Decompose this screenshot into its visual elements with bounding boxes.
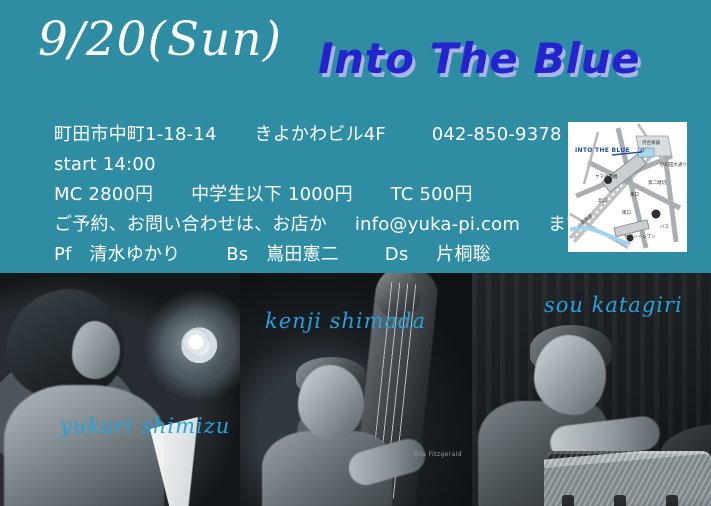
address-line: 町田市中町1-18-14 きよかわビル4F 042-850-9378 xyxy=(54,120,574,150)
map-graphic: INTO THE BLUE 河合楽器 4F 原町田大通り ヤマダ電機 第二踏切 … xyxy=(568,122,687,252)
reservation-text: ご予約、お問い合わせは、お店か xyxy=(54,214,327,235)
price-table-charge: TC 500円 xyxy=(391,184,473,205)
signature-sou-katagiri: sou katagiri xyxy=(544,293,683,317)
start-time: start 14:00 xyxy=(54,154,156,175)
photo-bassist: Ella Fitzgerald kenji shimada xyxy=(240,273,472,506)
venue-building: きよかわビル4F xyxy=(255,124,386,145)
member-photo-strip: yukari shimizu Ella Fitzgerald kenji shi… xyxy=(0,273,711,506)
venue-address: 町田市中町1-18-14 xyxy=(54,124,217,145)
contact-email[interactable]: info@yuka-pi.com xyxy=(355,214,520,235)
map-venue-label: INTO THE BLUE xyxy=(575,147,630,154)
event-date: 9/20(Sun) xyxy=(38,16,282,63)
map-label-3: ヤマダ電機 xyxy=(595,174,618,180)
map-label-4: 第二踏切 xyxy=(648,180,666,186)
map-label-7: 南口 xyxy=(622,210,631,216)
bass-drum xyxy=(544,451,711,506)
drums-role: Ds xyxy=(385,244,409,265)
map-label-10: セブンイレブン xyxy=(624,234,656,240)
pianist-face xyxy=(72,321,120,379)
photo-pianist: yukari shimizu xyxy=(0,273,240,506)
reservation-line: ご予約、お問い合わせは、お店か info@yuka-pi.com まで xyxy=(54,210,574,240)
map-svg xyxy=(568,122,687,252)
drum-lug xyxy=(666,495,678,506)
piano-name: 清水ゆかり xyxy=(89,244,180,265)
signature-kenji-shimada: kenji shimada xyxy=(265,309,426,333)
signature-yukari-shimizu: yukari shimizu xyxy=(60,414,230,438)
location-map[interactable]: INTO THE BLUE 河合楽器 4F 原町田大通り ヤマダ電機 第二踏切 … xyxy=(568,122,687,252)
map-label-5: 北口 xyxy=(598,198,607,204)
price-music-charge: MC 2800円 xyxy=(54,184,153,205)
members-line: Pf 清水ゆかり Bs 嶌田憲二 Ds 片桐聡 xyxy=(54,240,574,270)
bass-role: Bs xyxy=(226,244,248,265)
map-label-6: 東口 xyxy=(630,192,639,198)
photo-credit: Ella Fitzgerald xyxy=(414,451,462,458)
event-details: 町田市中町1-18-14 きよかわビル4F 042-850-9378 start… xyxy=(54,120,574,270)
bass-name: 嶌田憲二 xyxy=(266,244,339,265)
pricing-line: MC 2800円 中学生以下 1000円 TC 500円 xyxy=(54,180,574,210)
photo-drummer: sou katagiri xyxy=(472,273,711,506)
stage-light xyxy=(182,328,210,356)
map-label-2: 原町田大通り xyxy=(660,162,687,168)
concert-flyer: 9/20(Sun) Into The Blue 町田市中町1-18-14 きよか… xyxy=(0,0,711,506)
venue-phone: 042-850-9378 xyxy=(432,124,562,145)
drum-lug xyxy=(614,495,626,506)
map-label-0: 河合楽器 xyxy=(642,140,660,146)
map-label-9: バス xyxy=(660,224,669,230)
map-label-1: 4F xyxy=(640,149,645,154)
band-title: Into The Blue xyxy=(318,38,640,80)
drummer-face xyxy=(534,335,606,415)
pianist-body xyxy=(4,385,164,506)
start-time-line: start 14:00 xyxy=(54,150,574,180)
bassist-face xyxy=(298,365,364,439)
drums-name: 片桐聡 xyxy=(436,244,491,265)
price-student: 中学生以下 1000円 xyxy=(191,184,353,205)
piano-role: Pf xyxy=(54,244,72,265)
info-panel: 9/20(Sun) Into The Blue 町田市中町1-18-14 きよか… xyxy=(0,0,711,273)
drum-lug xyxy=(562,495,574,506)
